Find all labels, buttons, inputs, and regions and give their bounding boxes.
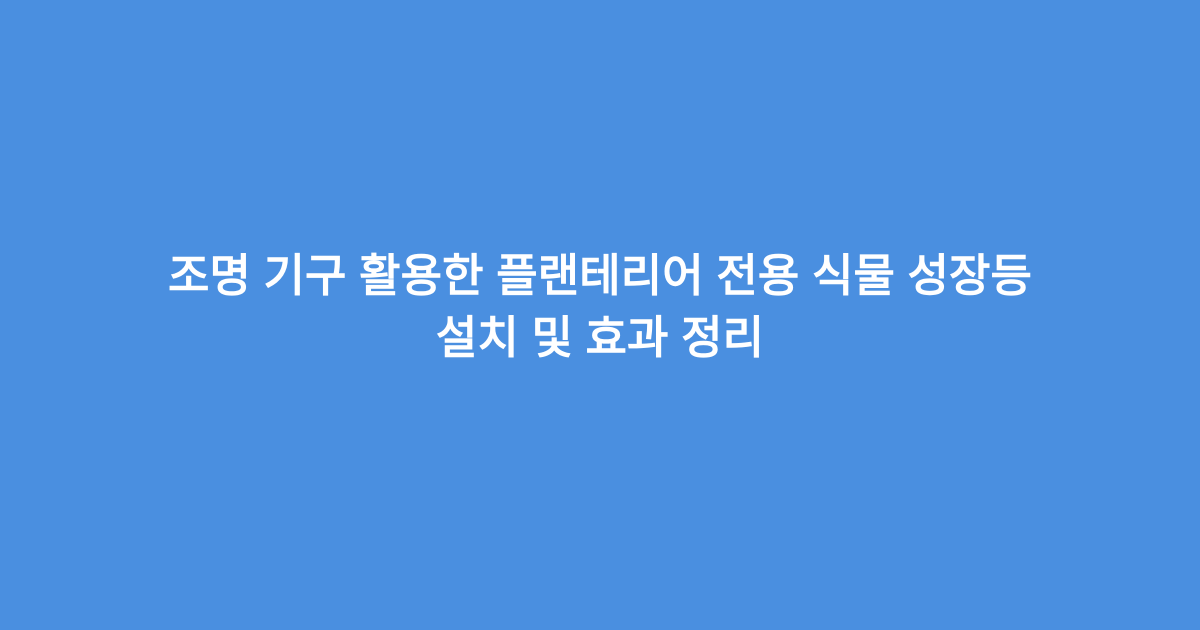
thumbnail-card: 조명 기구 활용한 플랜테리어 전용 식물 성장등 설치 및 효과 정리 <box>0 0 1200 630</box>
page-title: 조명 기구 활용한 플랜테리어 전용 식물 성장등 설치 및 효과 정리 <box>90 245 1110 369</box>
title-block: 조명 기구 활용한 플랜테리어 전용 식물 성장등 설치 및 효과 정리 <box>70 245 1130 369</box>
